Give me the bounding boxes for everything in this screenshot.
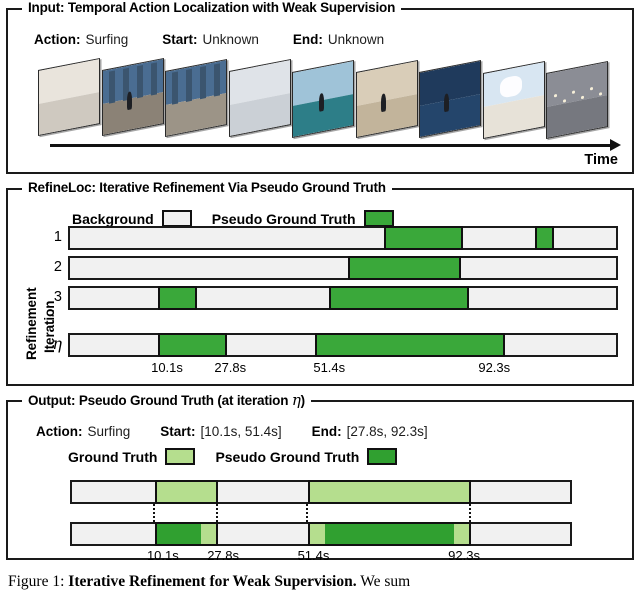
- pseudo-ground-truth-segment: [329, 286, 469, 310]
- output-start-value: [10.1s, 51.4s]: [201, 424, 282, 439]
- boundary-connector-line: [306, 504, 308, 522]
- caption-rest: We sum: [360, 573, 410, 590]
- output-legend: Ground Truth Pseudo Ground Truth: [68, 448, 397, 465]
- time-axis-line: [50, 144, 612, 147]
- input-action-field: Action: Surfing: [34, 32, 128, 47]
- refineloc-tick-labels: 10.1s27.8s51.4s92.3s: [68, 360, 618, 376]
- caption-prefix: Figure 1:: [8, 573, 64, 590]
- frame-6-beach-rider: [356, 60, 418, 138]
- iteration-track: [68, 333, 618, 357]
- tick-label: 10.1s: [147, 548, 179, 563]
- output-start-field: Start: [10.1s, 51.4s]: [160, 424, 281, 439]
- frame-surfer-silhouette: [381, 93, 386, 112]
- legend-label-background: Background: [72, 211, 154, 227]
- tick-label: 10.1s: [151, 360, 183, 375]
- segment-part: [325, 524, 455, 544]
- legend-label-output-pseudo-gt: Pseudo Ground Truth: [215, 449, 359, 465]
- refineloc-legend: Background Pseudo Ground Truth: [72, 210, 394, 227]
- input-panel-title: Input: Temporal Action Localization with…: [22, 0, 401, 16]
- tick-label: 92.3s: [478, 360, 510, 375]
- frame-surfer-silhouette: [444, 94, 449, 113]
- boundary-connector-line: [469, 504, 471, 522]
- output-tick-labels: 10.1s27.8s51.4s92.3s: [70, 548, 572, 564]
- input-action-value: Surfing: [86, 32, 129, 47]
- iteration-row-label: 3: [44, 290, 62, 304]
- refineloc-panel-title: RefineLoc: Iterative Refinement Via Pseu…: [22, 180, 392, 196]
- input-start-value: Unknown: [203, 32, 259, 47]
- output-panel-title: Output: Pseudo Ground Truth (at iteratio…: [22, 392, 311, 409]
- output-title-eta: η: [292, 391, 301, 409]
- iteration-track: [68, 226, 618, 250]
- ground-truth-segment: [155, 480, 218, 504]
- input-panel: Input: Temporal Action Localization with…: [6, 8, 634, 174]
- tick-label: 92.3s: [448, 548, 480, 563]
- frame-pier-post: [186, 69, 192, 102]
- ground-truth-segment: [308, 480, 471, 504]
- output-end-key: End:: [312, 424, 342, 439]
- segment-part: [310, 524, 325, 544]
- output-metadata-row: Action: Surfing Start: [10.1s, 51.4s] En…: [36, 424, 428, 439]
- pseudo-ground-truth-segment: [348, 256, 461, 280]
- pseudo-ground-truth-segment: [384, 226, 464, 250]
- axis-label-refinement: Refinement: [24, 287, 39, 360]
- boundary-connector-line: [153, 504, 155, 522]
- pseudo-ground-truth-track: [70, 522, 572, 546]
- legend-item-background: Background: [72, 210, 192, 227]
- output-action-key: Action:: [36, 424, 83, 439]
- frame-3-pier-wave: [165, 59, 227, 137]
- frame-pier-post: [172, 71, 178, 104]
- frame-4-crowd-faded: [229, 59, 291, 137]
- frame-surfer-silhouette: [127, 92, 132, 111]
- frame-surfer-silhouette: [319, 92, 324, 111]
- pseudo-ground-truth-segment: [315, 333, 505, 357]
- iteration-track: [68, 256, 618, 280]
- frame-2-pier-surfer: [102, 58, 164, 136]
- output-title-pre: Output: Pseudo Ground Truth (at iteratio…: [28, 393, 292, 408]
- pseudo-ground-truth-segment: [158, 333, 227, 357]
- frame-pier-post: [109, 71, 115, 104]
- legend-label-ground-truth: Ground Truth: [68, 449, 157, 465]
- legend-label-pseudo-gt: Pseudo Ground Truth: [212, 211, 356, 227]
- output-action-field: Action: Surfing: [36, 424, 130, 439]
- frame-1-beach-wash: [38, 58, 100, 136]
- tick-label: 51.4s: [313, 360, 345, 375]
- pseudo-ground-truth-segment: [158, 286, 197, 310]
- frame-pier-post: [151, 63, 157, 96]
- input-metadata-row: Action: Surfing Start: Unknown End: Unkn…: [34, 32, 384, 47]
- input-start-field: Start: Unknown: [162, 32, 259, 47]
- iteration-row-label: 1: [44, 230, 62, 244]
- time-axis-label: Time: [584, 152, 618, 168]
- legend-swatch-background: [162, 210, 192, 227]
- output-panel: Output: Pseudo Ground Truth (at iteratio…: [6, 400, 634, 560]
- frame-5-surfer-air: [292, 60, 354, 138]
- legend-item-ground-truth: Ground Truth: [68, 448, 195, 465]
- input-end-value: Unknown: [328, 32, 384, 47]
- frame-pier-post: [200, 66, 206, 99]
- legend-swatch-ground-truth: [165, 448, 195, 465]
- tick-label: 27.8s: [207, 548, 239, 563]
- segment-part: [157, 524, 202, 544]
- segment-part: [201, 524, 215, 544]
- segment-part: [454, 524, 469, 544]
- boundary-connector-line: [216, 504, 218, 522]
- time-axis-arrow-icon: [610, 139, 621, 151]
- legend-item-output-pseudo-gt: Pseudo Ground Truth: [215, 448, 397, 465]
- input-action-key: Action:: [34, 32, 81, 47]
- frame-9-night-scene: [546, 61, 608, 139]
- tick-label: 51.4s: [298, 548, 330, 563]
- pseudo-ground-truth-segment: [155, 522, 218, 546]
- input-end-key: End:: [293, 32, 323, 47]
- output-end-field: End: [27.8s, 92.3s]: [312, 424, 428, 439]
- ground-truth-track: [70, 480, 572, 504]
- legend-swatch-pseudo-gt: [364, 210, 394, 227]
- caption-bold: Iterative Refinement for Weak Supervisio…: [68, 573, 356, 590]
- figure-caption: Figure 1: Iterative Refinement for Weak …: [8, 572, 632, 591]
- pseudo-ground-truth-segment: [535, 226, 554, 250]
- iteration-row-label: 2: [44, 260, 62, 274]
- iteration-ellipsis: ⋮: [44, 312, 62, 318]
- tick-label: 27.8s: [214, 360, 246, 375]
- legend-swatch-output-pseudo-gt: [367, 448, 397, 465]
- frame-7-wave-rider: [419, 60, 481, 138]
- frame-pier-post: [137, 65, 143, 98]
- frame-8-sun-beach: [483, 61, 545, 139]
- iteration-row-label: η: [44, 337, 62, 351]
- output-start-key: Start:: [160, 424, 195, 439]
- video-filmstrip: [38, 60, 618, 138]
- output-end-value: [27.8s, 92.3s]: [347, 424, 428, 439]
- input-start-key: Start:: [162, 32, 197, 47]
- output-action-value: Surfing: [88, 424, 131, 439]
- legend-item-pseudo-gt: Pseudo Ground Truth: [212, 210, 394, 227]
- iteration-track: [68, 286, 618, 310]
- input-end-field: End: Unknown: [293, 32, 384, 47]
- output-title-post: ): [301, 393, 305, 408]
- frame-pier-post: [214, 63, 220, 96]
- refineloc-panel: RefineLoc: Iterative Refinement Via Pseu…: [6, 188, 634, 386]
- pseudo-ground-truth-segment: [308, 522, 471, 546]
